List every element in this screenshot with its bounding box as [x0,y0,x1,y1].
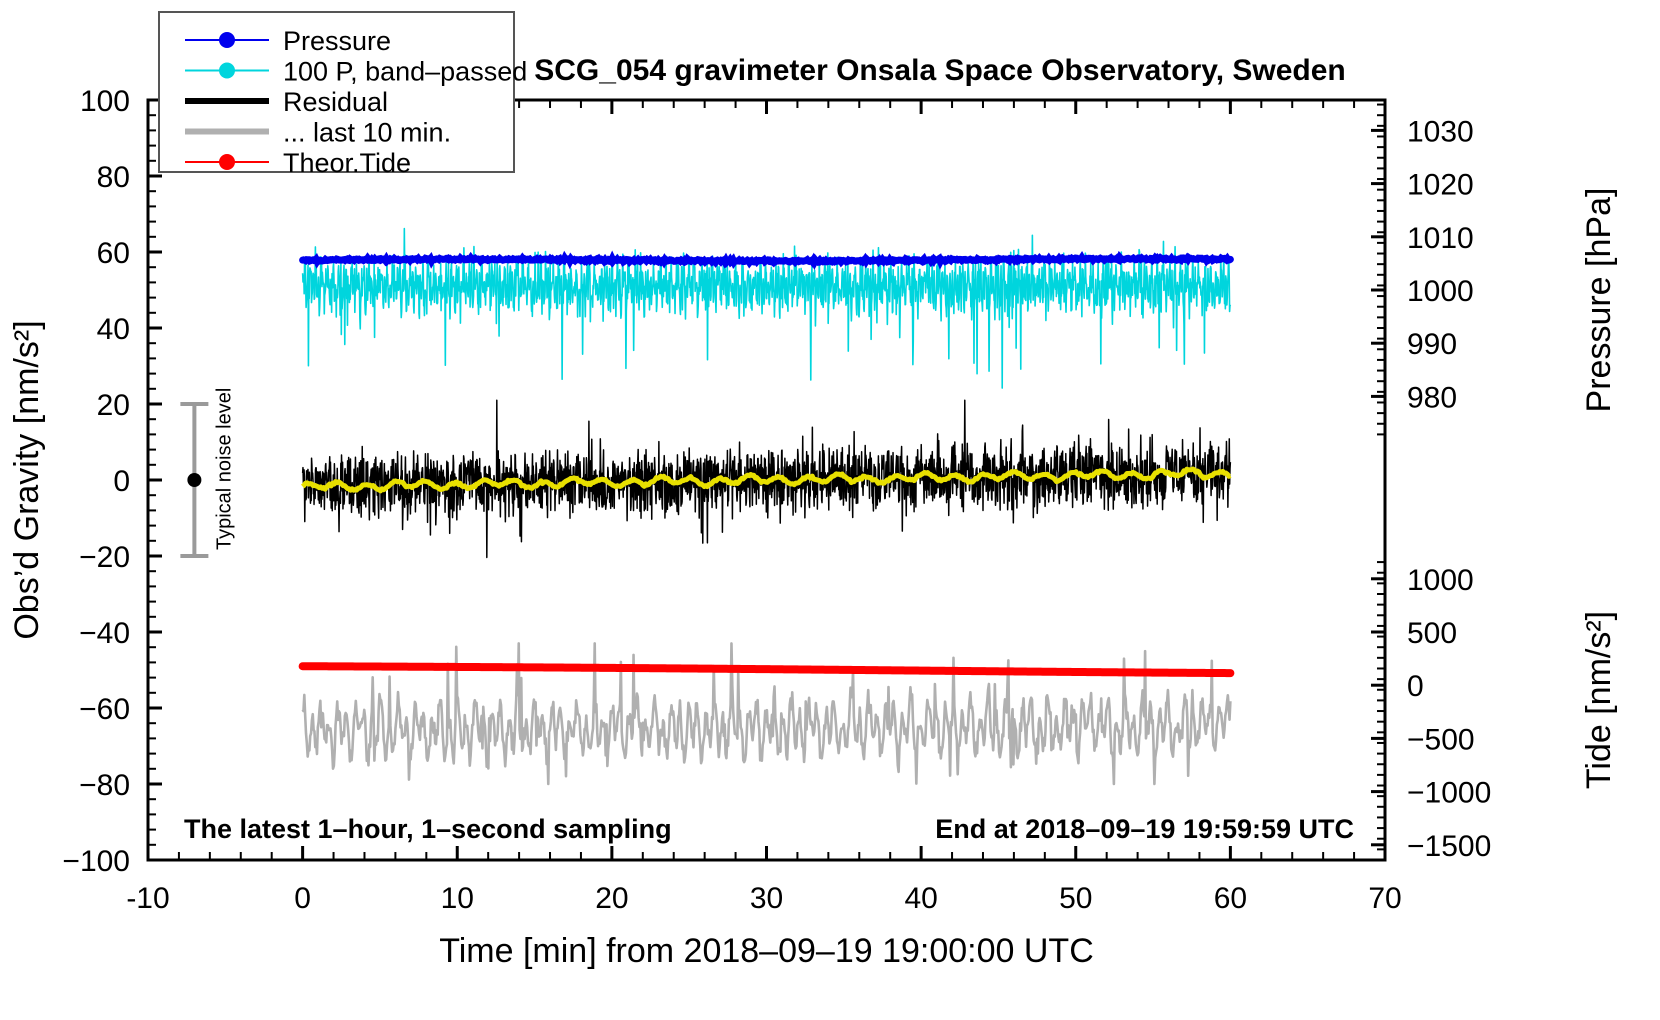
x-tick-label: 60 [1214,882,1247,915]
y-tick-label: 20 [97,389,130,422]
y-axis-left: −100−80−60−40−20020406080100Obs’d Gravit… [8,85,162,878]
y-tick-label: 100 [80,85,130,118]
tide-tick-label: −500 [1407,723,1475,756]
pressure-tick-label: 990 [1407,328,1457,361]
gravimeter-plot-page: -10010203040506070Time [min] from 2018–0… [0,0,1660,1020]
series-theoretical-tide [303,666,1231,673]
x-tick-label: -10 [126,882,169,915]
x-axis-title: Time [min] from 2018–09–19 19:00:00 UTC [439,932,1094,970]
typical-noise-bar: Typical noise level [180,388,235,556]
tide-tick-label: −1000 [1407,777,1491,810]
legend-item-label: Theor.Tide [283,148,411,178]
x-tick-label: 40 [904,882,937,915]
pressure-tick-label: 1020 [1407,169,1474,202]
y-axis-title-left: Obs’d Gravity [nm/s²] [8,320,46,639]
y-axis-title-pressure: Pressure [hPa] [1580,188,1618,413]
pressure-tick-label: 1000 [1407,275,1474,308]
y-tick-label: 0 [113,465,130,498]
tide-tick-label: −1500 [1407,830,1491,863]
x-tick-label: 0 [294,882,311,915]
y-axis-pressure: 9809901000101010201030Pressure [hPa] [1371,105,1618,435]
legend-swatch-marker [219,63,235,79]
series-bandpassed-pressure [303,229,1231,388]
annotation-bottom-left: The latest 1–hour, 1–second sampling [184,814,672,844]
tide-tick-label: 0 [1407,670,1424,703]
y-tick-label: 80 [97,161,130,194]
tide-tick-label: 1000 [1407,564,1474,597]
gravimeter-chart: -10010203040506070Time [min] from 2018–0… [0,0,1660,1020]
x-tick-label: 30 [750,882,783,915]
noise-bar-label: Typical noise level [213,388,235,550]
y-tick-label: 40 [97,313,130,346]
legend-item-label: Residual [283,87,388,117]
y-tick-label: −80 [79,769,130,802]
legend-item-label: ... last 10 min. [283,118,451,148]
data-traces [303,229,1231,784]
annotation-bottom-right: End at 2018–09–19 19:59:59 UTC [935,814,1354,844]
pressure-tick-label: 980 [1407,381,1457,414]
legend-item-label: 100 P, band–passed [283,57,527,87]
legend: Pressure100 P, band–passedResidual... la… [159,12,527,178]
y-axis-title-tide: Tide [nm/s²] [1580,611,1618,789]
x-tick-label: 70 [1368,882,1401,915]
noise-bar-center-dot [187,473,201,487]
pressure-tick-label: 1010 [1407,222,1474,255]
y-axis-tide: −1500−1000−50005001000Tide [nm/s²] [1371,562,1618,863]
series-residual [303,400,1231,557]
y-tick-label: −60 [79,693,130,726]
series-pressure [303,258,1231,263]
y-tick-label: 60 [97,237,130,270]
x-tick-label: 50 [1059,882,1092,915]
x-tick-label: 10 [441,882,474,915]
legend-item-label: Pressure [283,26,391,56]
x-tick-label: 20 [595,882,628,915]
plot-title: SCG_054 gravimeter Onsala Space Observat… [534,54,1346,87]
legend-swatch-marker [219,32,235,48]
y-tick-label: −20 [79,541,130,574]
y-tick-label: −40 [79,617,130,650]
y-tick-label: −100 [62,845,130,878]
pressure-tick-label: 1030 [1407,115,1474,148]
tide-tick-label: 500 [1407,617,1457,650]
legend-swatch-marker [219,154,235,170]
